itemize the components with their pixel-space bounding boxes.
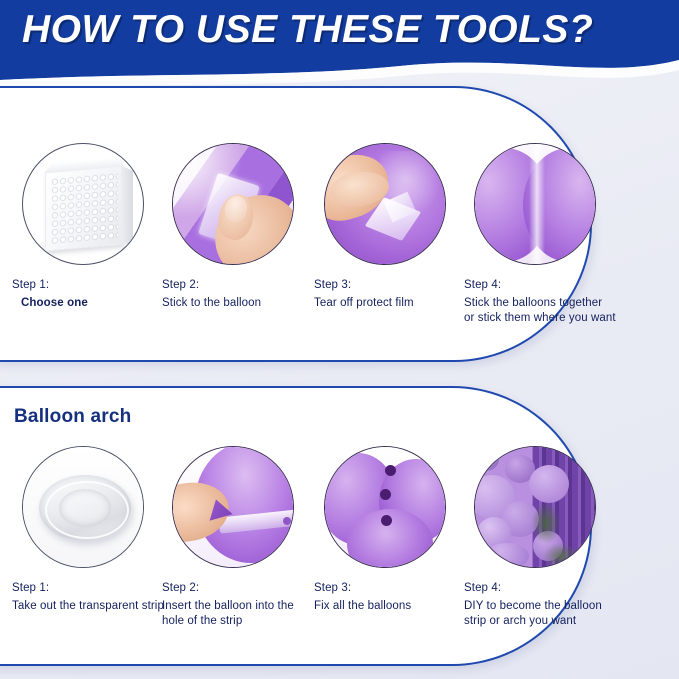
step-text-line-1: Stick to the balloon — [162, 296, 314, 311]
step-image-fix-balloons — [324, 446, 446, 568]
arch-balloon — [474, 447, 499, 471]
section-panel-basic-usage: Step 1: Choose one Step 2: Stick to the … — [0, 86, 592, 362]
sheet-dot-grid — [51, 172, 118, 245]
header-banner: HOW TO USE THESE TOOLS? — [0, 0, 679, 92]
step-text-line-1: Tear off protect film — [314, 296, 466, 311]
arch-balloon — [485, 543, 529, 568]
page-title: HOW TO USE THESE TOOLS? — [22, 8, 662, 52]
step-label: Step 2: — [162, 278, 314, 293]
caption-step-1: Step 1: Choose one — [12, 278, 164, 311]
caption-step-4: Step 4: Stick the balloons together or s… — [464, 278, 634, 325]
step-label: Step 1: — [12, 278, 164, 293]
greenery — [531, 501, 561, 545]
page-background: HOW TO USE THESE TOOLS? — [0, 0, 679, 679]
step-label: Step 4: — [464, 278, 634, 293]
balloon-seam-highlight — [529, 143, 545, 265]
step-image-balloons-together — [474, 143, 596, 265]
balloon-knot — [385, 465, 396, 476]
balloon-knot — [381, 515, 392, 526]
step-label: Step 2: — [162, 581, 322, 596]
caption-step-2: Step 2: Insert the balloon into the hole… — [162, 581, 322, 628]
step-text-line-1: Fix all the balloons — [314, 599, 466, 614]
roll-inner-hole — [59, 489, 111, 527]
caption-step-1: Step 1: Take out the transparent strip — [12, 581, 182, 614]
caption-step-4: Step 4: DIY to become the balloon strip … — [464, 581, 634, 628]
step-text-line-2: hole of the strip — [162, 614, 322, 629]
greenery — [543, 543, 579, 568]
caption-step-3: Step 3: Fix all the balloons — [314, 581, 466, 614]
caption-step-3: Step 3: Tear off protect film — [314, 278, 466, 311]
step-image-glue-dot-sheet — [22, 143, 144, 265]
section-title-balloon-arch: Balloon arch — [14, 406, 131, 428]
arch-balloon — [529, 465, 569, 503]
step-label: Step 1: — [12, 581, 182, 596]
balloon-knot — [380, 489, 391, 500]
step-image-finished-arch — [474, 446, 596, 568]
step-image-stick-to-balloon — [172, 143, 294, 265]
step-label: Step 4: — [464, 581, 634, 596]
step-text-line-2: or stick them where you want — [464, 311, 634, 326]
tape-roll-icon — [39, 475, 131, 541]
step-text-line-1: Take out the transparent strip — [12, 599, 182, 614]
glue-dot-sheet-icon — [45, 165, 123, 252]
sheet-side-face — [121, 166, 133, 247]
step-image-tear-off-film — [324, 143, 446, 265]
strip-hole — [283, 517, 291, 525]
step-label: Step 3: — [314, 278, 466, 293]
section-panel-balloon-arch: Balloon arch — [0, 386, 592, 666]
step-text-line-1: Insert the balloon into the — [162, 599, 322, 614]
step-text-line-2: strip or arch you want — [464, 614, 634, 629]
step-text-line-1: Choose one — [21, 296, 164, 311]
step-image-insert-balloon — [172, 446, 294, 568]
caption-step-2: Step 2: Stick to the balloon — [162, 278, 314, 311]
step-label: Step 3: — [314, 581, 466, 596]
step-text-line-1: DIY to become the balloon — [464, 599, 634, 614]
sheet-top-face — [44, 156, 128, 173]
step-text-line-1: Stick the balloons together — [464, 296, 634, 311]
step-image-transparent-strip — [22, 446, 144, 568]
